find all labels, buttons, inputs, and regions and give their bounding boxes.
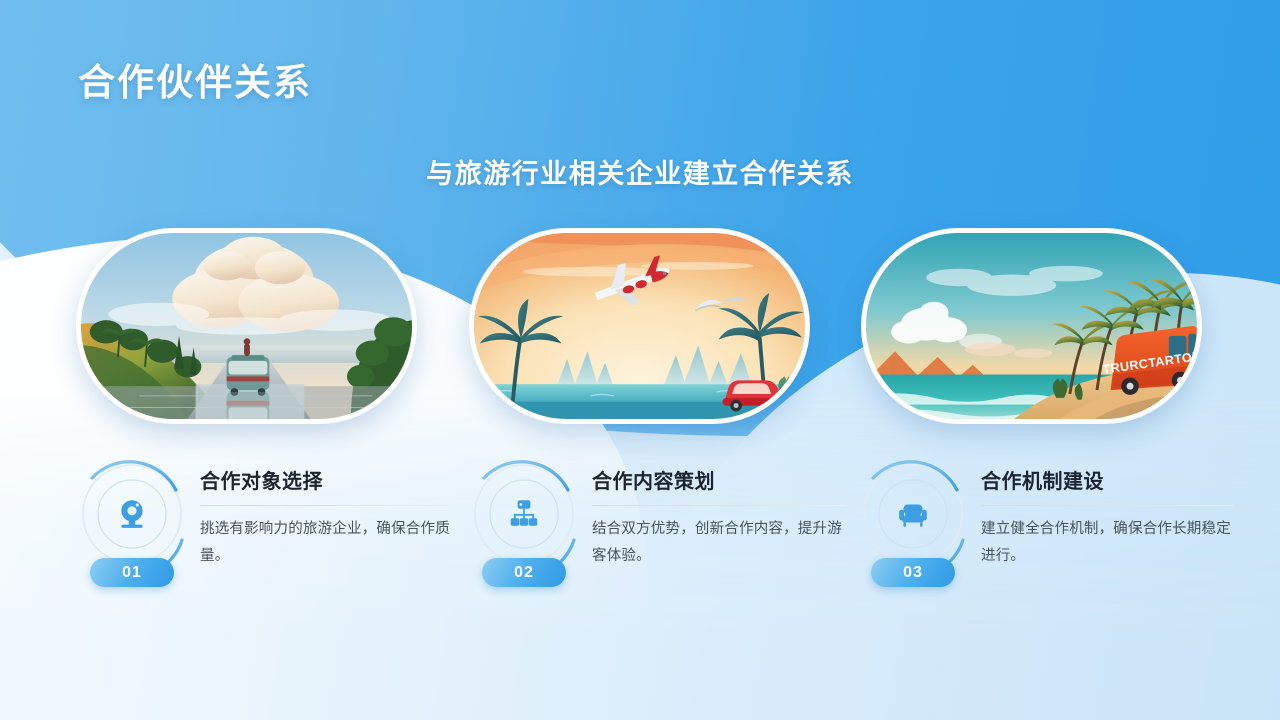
image-card-beach-bus: TRURCTARTOM	[861, 228, 1202, 424]
airplane-sunset-illustration	[474, 233, 805, 419]
feature-text-3: 合作机制建设 建立健全合作机制，确保合作长期稳定进行。	[981, 470, 1233, 570]
beach-bus-illustration: TRURCTARTOM	[866, 233, 1197, 419]
image-card-van-coastal-road	[76, 228, 417, 424]
feature-text-1: 合作对象选择 挑选有影响力的旅游企业，确保合作质量。	[200, 470, 452, 570]
feature-item-2[interactable]: 02 合作内容策划 结合双方优势，创新合作内容，提升游客体验。	[456, 448, 848, 608]
feature-divider-3	[981, 505, 1233, 506]
feature-item-3[interactable]: 03 合作机制建设 建立健全合作机制，确保合作长期稳定进行。	[845, 448, 1237, 608]
image-card-row: TRURCTARTOM	[0, 228, 1280, 428]
feature-title-2: 合作内容策划	[592, 470, 844, 494]
step-number-badge-1: 01	[90, 558, 174, 587]
step-number-badge-3: 03	[871, 558, 955, 587]
badge-ring-group-2: 02	[456, 452, 592, 602]
webcam-icon	[104, 486, 160, 542]
sitemap-icon	[496, 486, 552, 542]
feature-title-1: 合作对象选择	[200, 470, 452, 494]
armchair-icon	[885, 486, 941, 542]
page-title: 合作伙伴关系	[78, 52, 312, 106]
feature-item-1[interactable]: 01 合作对象选择 挑选有影响力的旅游企业，确保合作质量。	[64, 448, 456, 608]
badge-ring-group-3: 03	[845, 452, 981, 602]
van-coastal-road-photo	[81, 233, 412, 419]
step-number-badge-2: 02	[482, 558, 566, 587]
feature-item-row: 01 合作对象选择 挑选有影响力的旅游企业，确保合作质量。	[0, 448, 1280, 618]
feature-divider-2	[592, 505, 844, 506]
slide-canvas: 合作伙伴关系 与旅游行业相关企业建立合作关系	[0, 0, 1280, 720]
image-card-airplane-sunset	[469, 228, 810, 424]
feature-desc-3: 建立健全合作机制，确保合作长期稳定进行。	[981, 516, 1233, 570]
feature-text-2: 合作内容策划 结合双方优势，创新合作内容，提升游客体验。	[592, 470, 844, 570]
page-subtitle: 与旅游行业相关企业建立合作关系	[0, 152, 1280, 191]
feature-title-3: 合作机制建设	[981, 470, 1233, 494]
badge-ring-group-1: 01	[64, 452, 200, 602]
feature-desc-1: 挑选有影响力的旅游企业，确保合作质量。	[200, 516, 452, 570]
feature-divider-1	[200, 505, 452, 506]
feature-desc-2: 结合双方优势，创新合作内容，提升游客体验。	[592, 516, 844, 570]
